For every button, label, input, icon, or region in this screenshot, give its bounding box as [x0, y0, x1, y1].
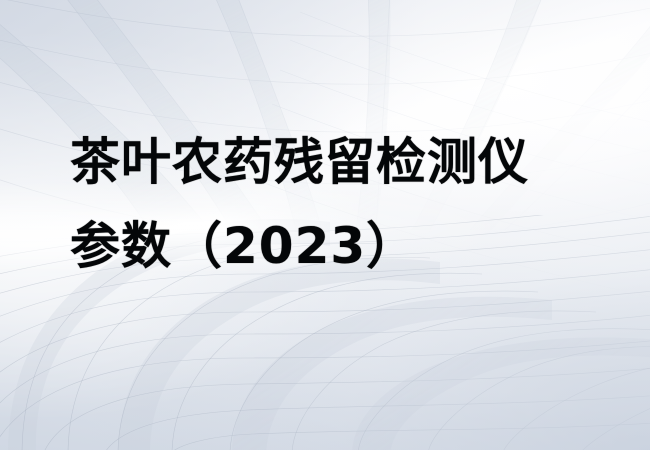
title-line-2: 参数（2023） — [70, 204, 630, 288]
title-banner: 茶叶农药残留检测仪 参数（2023） — [0, 0, 650, 450]
banner-title: 茶叶农药残留检测仪 参数（2023） — [70, 120, 630, 288]
title-line-1: 茶叶农药残留检测仪 — [70, 120, 630, 204]
